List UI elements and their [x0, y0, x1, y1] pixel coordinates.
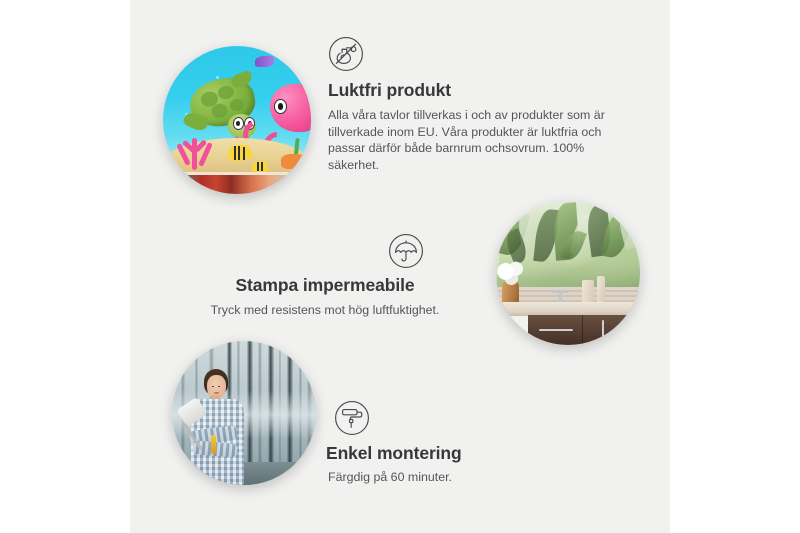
room-photo-strip: [163, 172, 311, 194]
painter-person: [186, 367, 267, 485]
feature-body: Färgdig på 60 minuter.: [328, 469, 566, 486]
door-handle[interactable]: [602, 320, 605, 339]
feature-body: Alla våra tavlor tillverkas i och av pro…: [328, 107, 628, 173]
drawer-handle[interactable]: [539, 329, 573, 332]
paint-roller-icon: [334, 400, 370, 436]
feature-waterproof: Stampa impermeabile Tryck med resistens …: [190, 233, 460, 319]
feature-body: Tryck med resistens mot hög luftfuktighe…: [190, 302, 460, 319]
vanity-cabinet: [528, 315, 640, 345]
feature-odourless: Luktfri produkt Alla våra tavlor tillver…: [328, 36, 628, 173]
image-forest-painter: [172, 341, 316, 485]
image-bathroom-wallpaper: [496, 201, 640, 345]
umbrella-icon: [388, 233, 424, 269]
flowers: [496, 261, 528, 287]
feature-easy-install: Enkel montering Färgdig på 60 minuter.: [326, 400, 566, 486]
feature-title: Luktfri produkt: [328, 80, 628, 101]
coral-icon: [172, 126, 222, 170]
turtle-eye: [233, 117, 244, 130]
purple-fish-icon: [255, 56, 274, 66]
feature-title: Stampa impermeabile: [190, 275, 460, 296]
starfish-icon: [281, 154, 306, 169]
striped-fish-icon: [252, 161, 267, 171]
product-feature-panel: Luktfri produkt Alla våra tavlor tillver…: [0, 0, 800, 533]
hand-tool: [211, 435, 217, 454]
feature-title: Enkel montering: [326, 443, 566, 464]
soap-bottle: [597, 276, 606, 305]
image-underwater-mural: [163, 46, 311, 194]
no-fragrance-icon: [328, 36, 364, 72]
